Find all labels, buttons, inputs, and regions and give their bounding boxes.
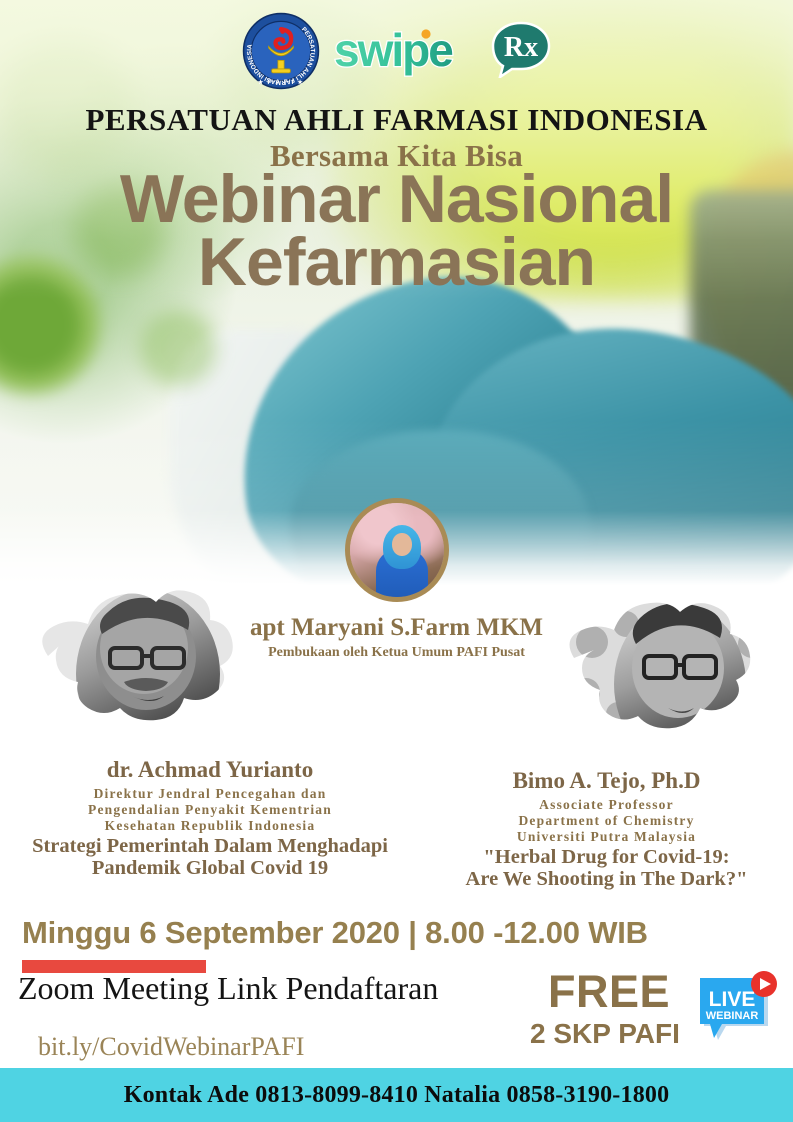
logo-row: PERSATUAN AHLI FARMASI INDONESIA ★ P A F… — [0, 8, 793, 94]
speaker-topic-left: Strategi Pemerintah Dalam Menghadapi Pan… — [0, 835, 420, 880]
affiliation-line: Universiti Putra Malaysia — [420, 829, 793, 845]
swipe-wordmark-icon: swipe — [334, 22, 486, 80]
rx-bubble-icon: Rx — [490, 20, 552, 83]
affiliation-line: Kesehatan Republik Indonesia — [0, 818, 420, 834]
main-title-line-2: Kefarmasian — [0, 231, 793, 294]
free-label: FREE — [548, 966, 670, 1018]
svg-text:★ P A F I ★: ★ P A F I ★ — [256, 79, 303, 86]
affiliation-line: Associate Professor — [420, 797, 793, 813]
organization-title: PERSATUAN AHLI FARMASI INDONESIA — [0, 102, 793, 138]
speaker-photo-right — [556, 588, 784, 766]
topic-line: Strategi Pemerintah Dalam Menghadapi — [0, 835, 420, 858]
swiperx-logo: swipe Rx — [334, 20, 552, 83]
live-webinar-badge-icon: LIVE WEBINAR — [696, 970, 782, 1044]
affiliation-line: Department of Chemistry — [420, 813, 793, 829]
affiliation-line: Pengendalian Penyakit Kementrian — [0, 802, 420, 818]
speaker-name-left: dr. Achmad Yurianto — [0, 757, 420, 783]
webinar-poster: PERSATUAN AHLI FARMASI INDONESIA ★ P A F… — [0, 0, 793, 1122]
speaker-photo-left — [28, 578, 270, 760]
avatar-face — [392, 533, 412, 556]
speaker-name-right: Bimo A. Tejo, Ph.D — [420, 768, 793, 794]
event-datetime: Minggu 6 September 2020 | 8.00 -12.00 WI… — [22, 915, 648, 951]
speaker-topic-right: "Herbal Drug for Covid-19: Are We Shooti… — [420, 846, 793, 891]
platform-registration-label: Zoom Meeting Link Pendaftaran — [18, 970, 438, 1007]
affiliation-line: Direktur Jendral Pencegahan dan — [0, 786, 420, 802]
topic-line: Pandemik Global Covid 19 — [0, 857, 420, 880]
topic-line: Are We Shooting in The Dark?" — [420, 868, 793, 891]
registration-link[interactable]: bit.ly/CovidWebinarPAFI — [38, 1032, 304, 1062]
speaker-block-right: Bimo A. Tejo, Ph.D Associate Professor D… — [420, 768, 793, 891]
contact-text: Kontak Ade 0813-8099-8410 Natalia 0858-3… — [124, 1082, 670, 1109]
speaker-affiliation-left: Direktur Jendral Pencegahan dan Pengenda… — [0, 786, 420, 834]
main-title: Webinar Nasional Kefarmasian — [0, 168, 793, 293]
skp-credits-label: 2 SKP PAFI — [530, 1018, 680, 1050]
live-badge-webinar-text: WEBINAR — [706, 1010, 759, 1022]
speaker-affiliation-right: Associate Professor Department of Chemis… — [420, 797, 793, 845]
center-speaker-avatar — [345, 498, 449, 602]
topic-line: "Herbal Drug for Covid-19: — [420, 846, 793, 869]
svg-text:swipe: swipe — [334, 24, 453, 76]
svg-text:Rx: Rx — [503, 32, 537, 63]
live-badge-live-text: LIVE — [709, 988, 756, 1011]
pafi-logo-icon: PERSATUAN AHLI FARMASI INDONESIA ★ P A F… — [242, 12, 320, 90]
virus-blob-2 — [130, 300, 226, 396]
contact-bar: Kontak Ade 0813-8099-8410 Natalia 0858-3… — [0, 1068, 793, 1122]
speaker-block-left: dr. Achmad Yurianto Direktur Jendral Pen… — [0, 757, 420, 880]
